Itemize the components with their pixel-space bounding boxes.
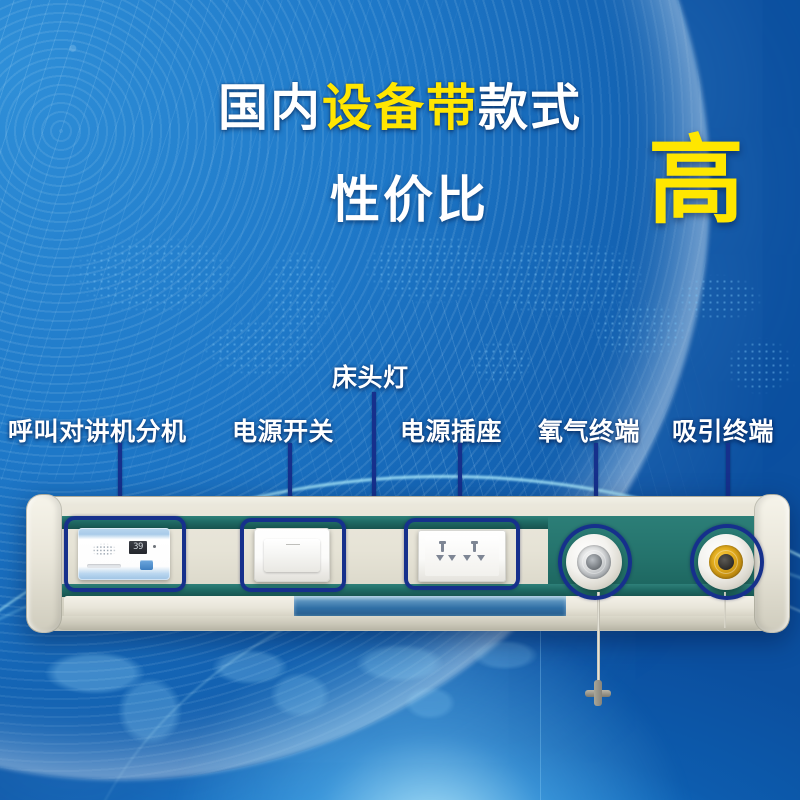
- callout-label-oxygen: 氧气终端: [538, 412, 640, 448]
- headline-emphasis: 高: [648, 134, 746, 230]
- callout-label-suction: 吸引终端: [672, 412, 774, 448]
- cord-handle-stem: [594, 680, 602, 706]
- highlight-box-power-socket: [404, 518, 520, 590]
- highlight-box-power-switch: [240, 518, 346, 592]
- callout-label-power-switch: 电源开关: [232, 412, 334, 448]
- headline-line-2-wrap: 性价比 高: [0, 156, 800, 266]
- panel-bottom-lip: [54, 616, 764, 630]
- callout-label-bed-lamp: 床头灯: [332, 358, 409, 394]
- highlight-circle-suction: [690, 524, 764, 600]
- bed-lamp-diffuser: [294, 596, 566, 618]
- panel-end-cap-left: [26, 494, 62, 633]
- callout-label-intercom: 呼叫对讲机分机: [8, 412, 187, 448]
- headline-part-1: 国内: [218, 80, 322, 136]
- callout-label-power-socket: 电源插座: [400, 412, 502, 448]
- headline-block: 国内设备带款式 性价比 高: [0, 82, 800, 135]
- poster-canvas: 国内设备带款式 性价比 高 呼叫对讲机分机 电源开关 床头灯 电源插座 氧气终端…: [0, 0, 800, 800]
- headline-part-2: 设备带: [322, 80, 478, 136]
- highlight-box-intercom: [64, 516, 186, 592]
- headline-line-2: 性价比: [330, 160, 489, 232]
- pull-cord-oxygen[interactable]: [597, 592, 600, 684]
- headline-part-3: 款式: [478, 80, 582, 136]
- highlight-circle-oxygen: [558, 524, 632, 600]
- pull-cord-handle[interactable]: [585, 680, 611, 706]
